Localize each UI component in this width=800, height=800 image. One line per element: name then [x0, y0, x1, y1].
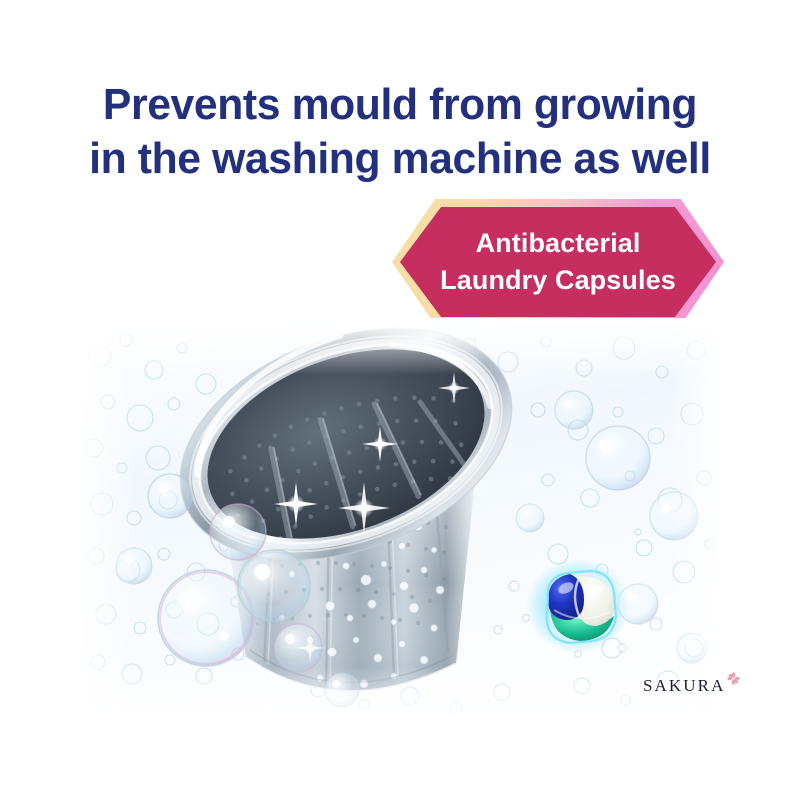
brand-name: SAKURA — [643, 676, 726, 696]
laundry-capsule — [526, 558, 630, 654]
sakura-flower-icon — [727, 672, 740, 690]
headline-line-1: Prevents mould from growing — [12, 78, 788, 132]
badge-text: Antibacterial Laundry Capsules — [392, 199, 724, 325]
brand-logo: SAKURA — [643, 676, 740, 696]
antibacterial-badge: Antibacterial Laundry Capsules — [392, 199, 724, 325]
headline: Prevents mould from growing in the washi… — [0, 78, 800, 186]
badge-line-1: Antibacterial — [476, 225, 641, 262]
photo-illustration — [78, 318, 723, 723]
product-photo — [78, 318, 723, 723]
badge-line-2: Laundry Capsules — [440, 262, 676, 299]
poster-root: Prevents mould from growing in the washi… — [0, 0, 800, 800]
headline-line-2: in the washing machine as well — [12, 132, 788, 186]
